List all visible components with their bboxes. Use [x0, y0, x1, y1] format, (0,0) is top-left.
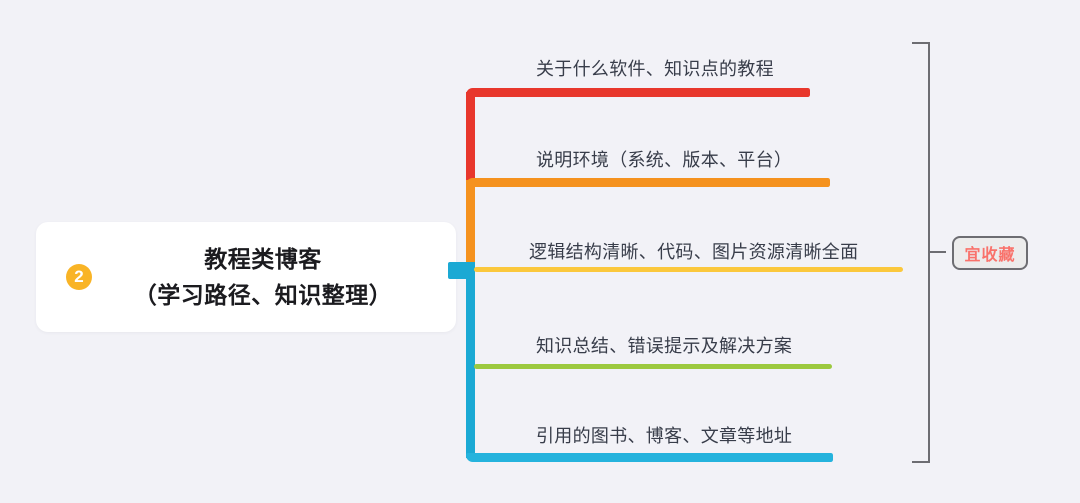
branch-label-4[interactable]: 知识总结、错误提示及解决方案: [536, 332, 792, 358]
branch-line-4: [474, 364, 832, 369]
branch-line-5: [466, 453, 833, 462]
spine-segment-cyan: [466, 262, 475, 458]
branch-label-1[interactable]: 关于什么软件、知识点的教程: [536, 55, 774, 81]
center-node-badge: 2: [66, 264, 92, 290]
summary-tag[interactable]: 宜收藏: [952, 236, 1028, 270]
branch-line-2: [466, 178, 830, 187]
center-node[interactable]: 2 教程类博客 （学习路径、知识整理）: [36, 222, 456, 332]
summary-bracket-tick: [930, 251, 946, 253]
summary-tag-label: 宜收藏: [964, 241, 1015, 265]
branch-line-1: [466, 88, 810, 97]
center-node-title-line2: （学习路径、知识整理）: [70, 277, 456, 313]
center-node-title-line1: 教程类博客: [204, 246, 322, 272]
mindmap-canvas: 2 教程类博客 （学习路径、知识整理） 关于什么软件、知识点的教程 说明环境（系…: [0, 0, 1080, 503]
branch-label-3[interactable]: 逻辑结构清晰、代码、图片资源清晰全面: [529, 238, 858, 264]
spine-segment-red: [466, 92, 475, 184]
branch-label-2[interactable]: 说明环境（系统、版本、平台）: [536, 146, 792, 172]
branch-label-5[interactable]: 引用的图书、博客、文章等地址: [536, 422, 792, 448]
center-node-title: 教程类博客 （学习路径、知识整理）: [36, 241, 456, 313]
branch-line-3: [474, 267, 903, 272]
spine-segment-orange: [466, 180, 475, 268]
summary-bracket: [912, 42, 930, 463]
